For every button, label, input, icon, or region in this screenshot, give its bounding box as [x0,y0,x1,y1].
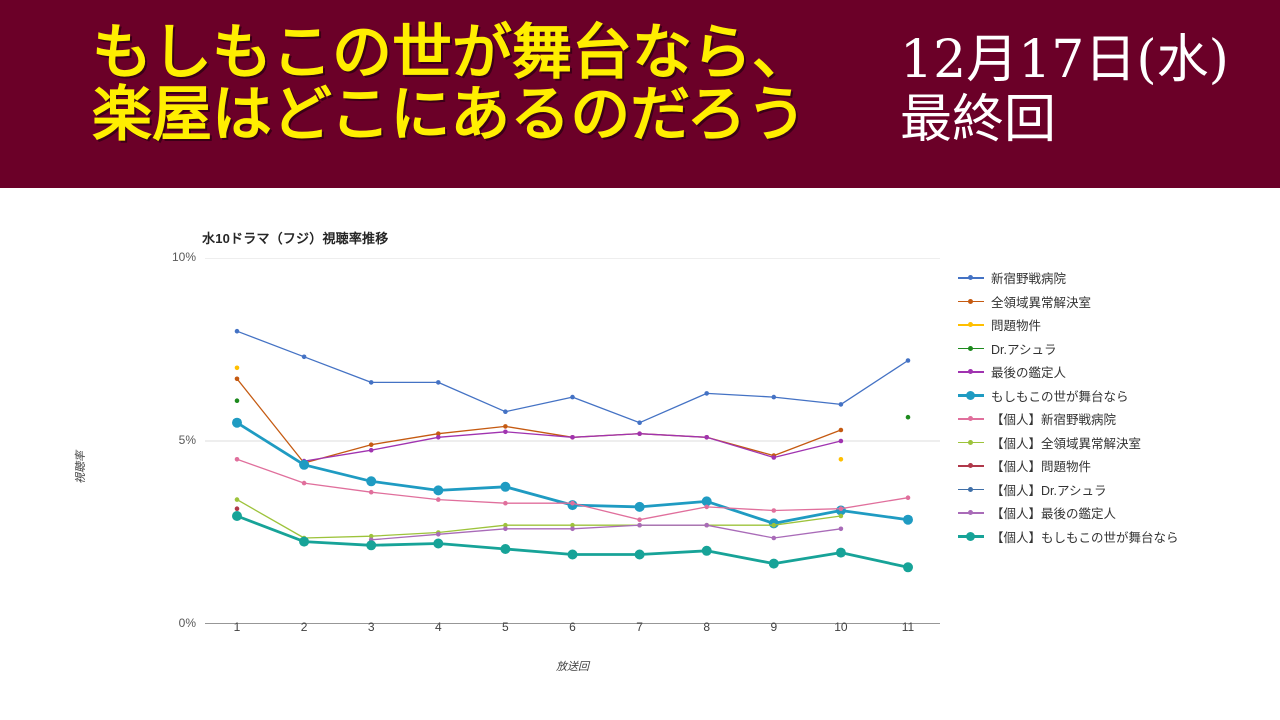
legend-swatch-icon [958,319,984,331]
series-4 [302,430,843,464]
legend-label: もしもこの世が舞台なら [991,386,1129,405]
data-point [906,358,911,363]
legend-label: 【個人】もしもこの世が舞台なら [991,527,1179,546]
legend-label: 新宿野戦病院 [991,268,1066,287]
legend-label: 【個人】全領域異常解決室 [991,433,1141,452]
data-point [436,435,441,440]
data-point [906,495,911,500]
data-point [635,502,645,512]
legend-swatch-icon [958,483,984,495]
y-tick-label: 5% [150,433,196,447]
data-point [369,448,374,453]
series-line [237,459,908,519]
legend-swatch-icon [958,272,984,284]
data-point [839,527,844,532]
data-point [903,515,913,525]
data-point [635,550,645,560]
data-point [369,442,374,447]
data-point [836,548,846,558]
legend-item-6[interactable]: 【個人】新宿野戦病院 [958,407,1258,431]
legend-swatch-icon [958,507,984,519]
data-point [299,537,309,547]
data-point [839,428,844,433]
series-line [237,331,908,423]
legend-label: 全領域異常解決室 [991,292,1091,311]
data-point [772,508,777,513]
series-6 [235,457,911,522]
data-point [500,544,510,554]
legend-item-4[interactable]: 最後の鑑定人 [958,360,1258,384]
legend-label: 【個人】問題物件 [991,456,1091,475]
data-point [839,514,844,519]
legend-label: 【個人】最後の鑑定人 [991,503,1116,522]
legend-item-9[interactable]: 【個人】Dr.アシュラ [958,478,1258,502]
data-point [702,546,712,556]
data-point [503,501,508,506]
data-point [637,431,642,436]
data-point [232,418,242,428]
data-point [436,532,441,537]
air-date: 12月17日(水) [900,30,1229,90]
legend-item-5[interactable]: もしもこの世が舞台なら [958,384,1258,408]
data-point [235,457,240,462]
legend-item-3[interactable]: Dr.アシュラ [958,337,1258,361]
y-tick-label: 10% [150,250,196,264]
legend-label: 【個人】Dr.アシュラ [991,480,1106,499]
legend-label: Dr.アシュラ [991,339,1056,358]
series-1 [235,377,844,466]
episode-note: 最終回 [900,90,1229,150]
legend-item-11[interactable]: 【個人】もしもこの世が舞台なら [958,525,1258,549]
data-point [570,395,575,400]
series-line [237,500,841,538]
data-point [704,435,709,440]
chart-region: 水10ドラマ（フジ）視聴率推移 視聴率 放送回 0%5%10% 12345678… [0,188,1280,720]
data-point [299,460,309,470]
data-point [906,415,911,420]
data-point [235,366,240,371]
data-point [772,395,777,400]
data-point [839,506,844,511]
data-point [839,402,844,407]
data-point [637,420,642,425]
y-axis-title: 視聴率 [72,451,88,484]
legend-label: 最後の鑑定人 [991,362,1066,381]
legend-item-2[interactable]: 問題物件 [958,313,1258,337]
chart-legend: 新宿野戦病院全領域異常解決室問題物件Dr.アシュラ最後の鑑定人もしもこの世が舞台… [958,266,1258,548]
line-chart-svg [205,258,940,624]
data-point [637,523,642,528]
data-point [503,430,508,435]
legend-swatch-icon [958,460,984,472]
legend-swatch-icon [958,436,984,448]
data-point [503,527,508,532]
data-point [436,380,441,385]
data-point [366,540,376,550]
header-banner: もしもこの世が舞台なら、 楽屋はどこにあるのだろう 12月17日(水) 最終回 [0,0,1280,188]
data-point [839,439,844,444]
chart-title: 水10ドラマ（フジ）視聴率推移 [202,228,388,247]
data-point [433,485,443,495]
data-point [500,482,510,492]
legend-swatch-icon [958,413,984,425]
legend-swatch-icon [958,295,984,307]
show-title: もしもこの世が舞台なら、 楽屋はどこにあるのだろう [92,22,922,146]
data-point [637,517,642,522]
data-point [366,476,376,486]
data-point [235,329,240,334]
data-point [570,501,575,506]
data-point [433,539,443,549]
series-8 [235,506,240,511]
data-point [503,409,508,414]
data-point [369,490,374,495]
y-tick-label: 0% [150,616,196,630]
legend-swatch-icon [958,342,984,354]
data-point [369,380,374,385]
data-point [704,523,709,528]
x-axis-title: 放送回 [0,658,1145,674]
legend-item-10[interactable]: 【個人】最後の鑑定人 [958,501,1258,525]
data-point [772,455,777,460]
legend-swatch-icon [958,366,984,378]
data-point [839,457,844,462]
legend-swatch-icon [958,530,984,542]
data-point [302,481,307,486]
data-point [704,391,709,396]
series-0 [235,329,911,425]
data-point [436,497,441,502]
legend-item-8[interactable]: 【個人】問題物件 [958,454,1258,478]
data-point [769,559,779,569]
data-point [235,377,240,382]
data-point [232,511,242,521]
data-point [704,505,709,510]
data-point [903,562,913,572]
data-point [302,355,307,360]
data-point [235,506,240,511]
plot-area [205,258,940,624]
data-point [235,398,240,403]
legend-item-1[interactable]: 全領域異常解決室 [958,290,1258,314]
legend-label: 【個人】新宿野戦病院 [991,409,1116,428]
series-5 [232,418,913,529]
air-date-block: 12月17日(水) 最終回 [900,30,1229,150]
data-point [570,527,575,532]
data-point [503,424,508,429]
series-2 [235,366,844,462]
data-point [772,523,777,528]
legend-swatch-icon [958,389,984,401]
legend-label: 問題物件 [991,315,1041,334]
data-point [772,536,777,541]
data-point [570,435,575,440]
data-point [235,497,240,502]
legend-item-0[interactable]: 新宿野戦病院 [958,266,1258,290]
data-point [568,550,578,560]
legend-item-7[interactable]: 【個人】全領域異常解決室 [958,431,1258,455]
